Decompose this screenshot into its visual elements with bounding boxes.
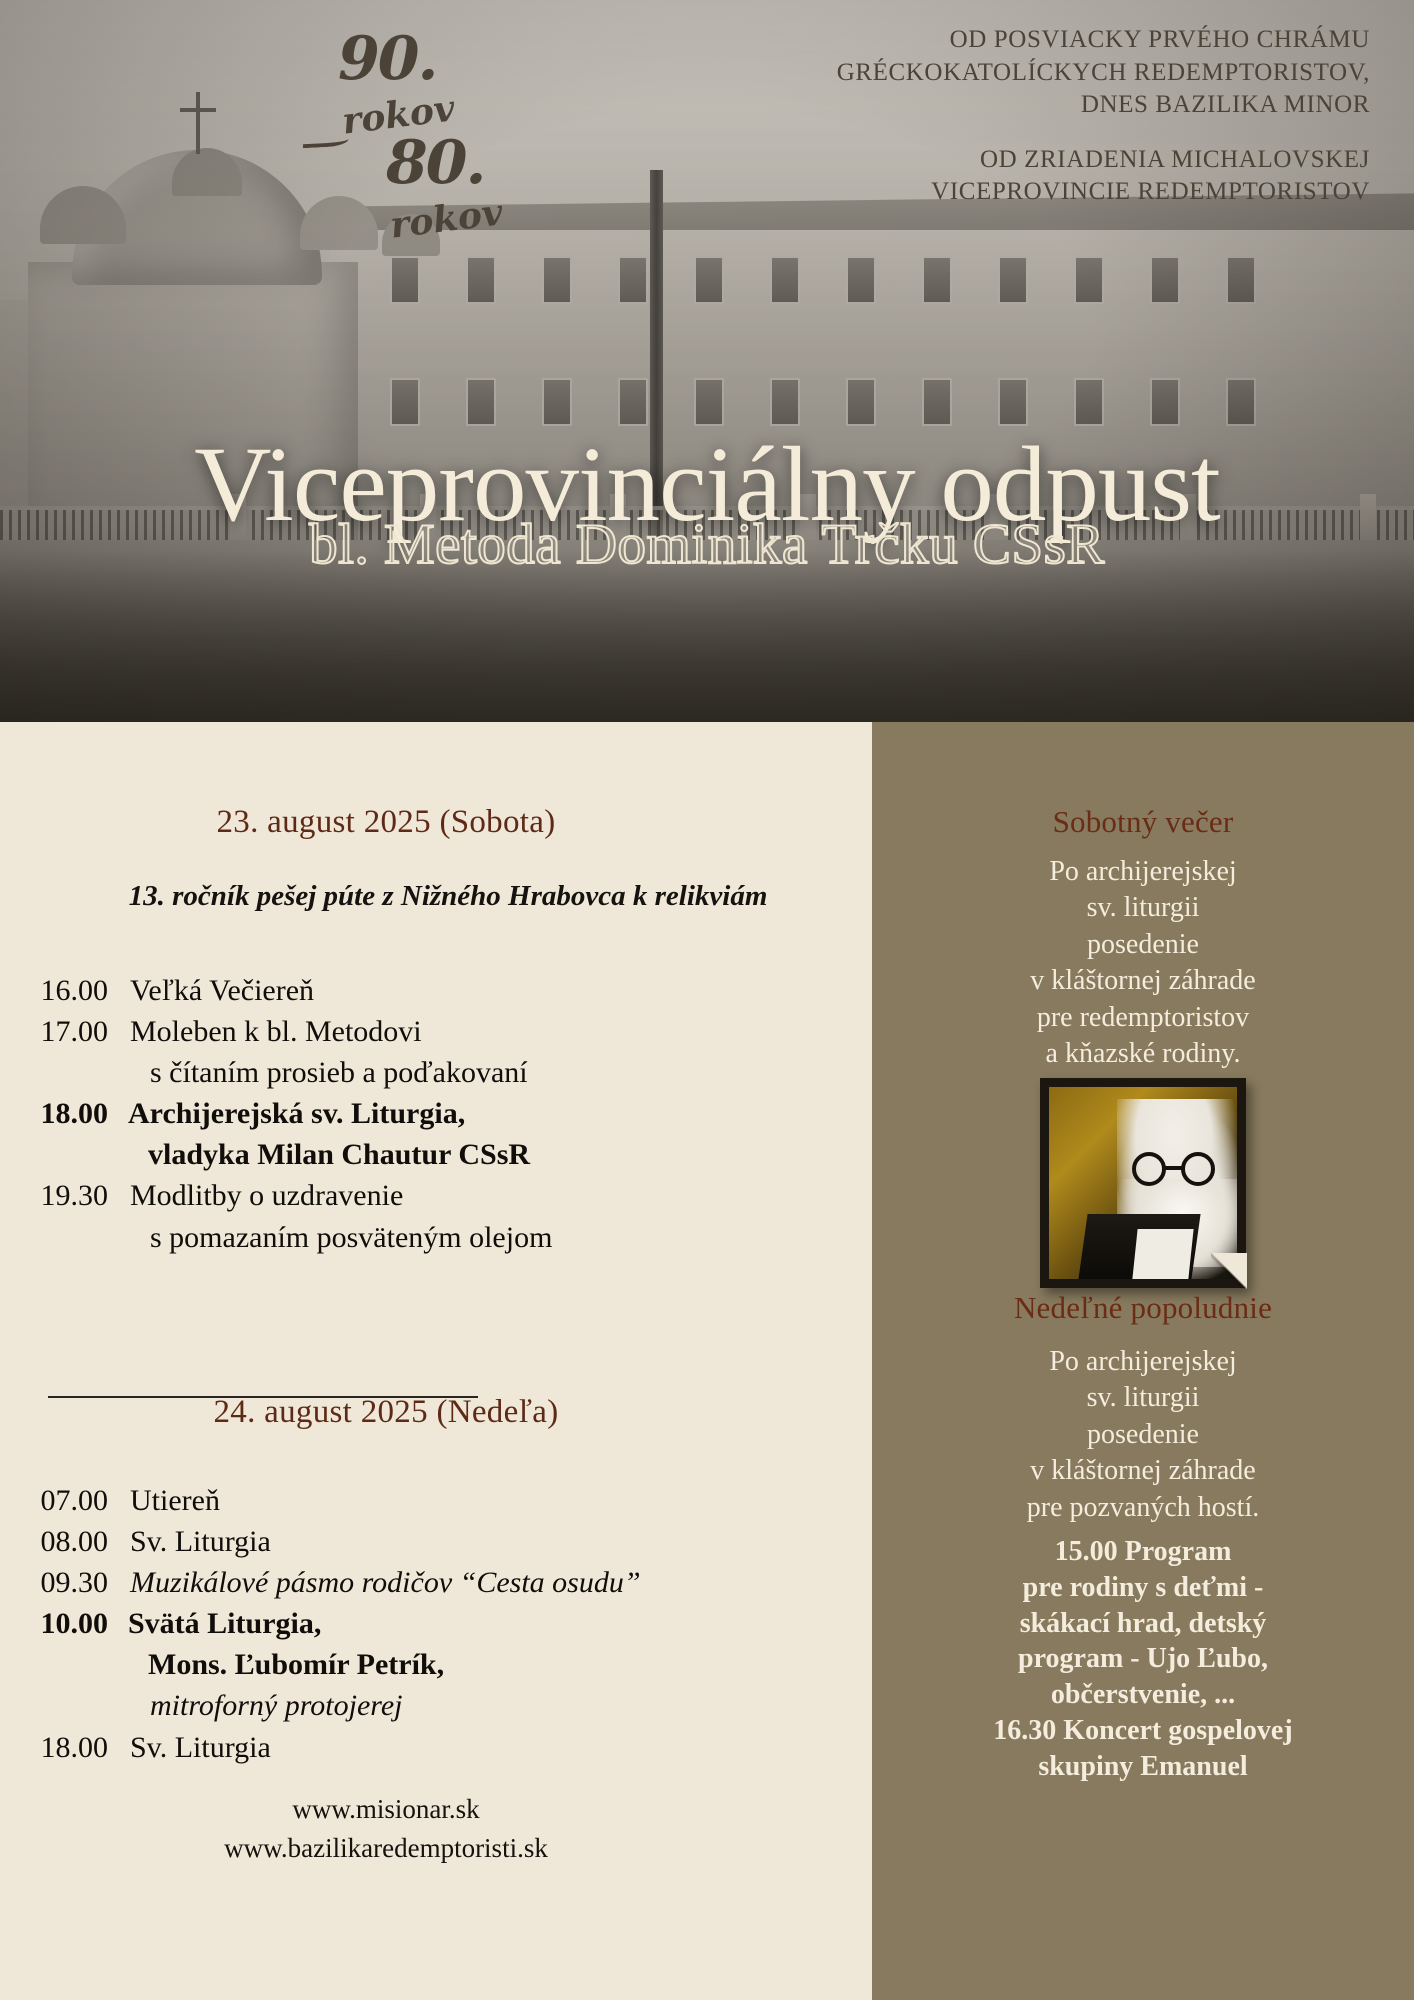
side-line: v kláštornej záhrade xyxy=(872,963,1414,999)
anniversary-80-number: 80. xyxy=(386,136,484,190)
schedule-desc: Sv. Liturgia xyxy=(108,1521,271,1562)
saturday-evening-text: Po archijerejskej sv. liturgii posedenie… xyxy=(872,854,1414,1072)
anniversary-line: OD POSVIACKY PRVÉHO CHRÁMU xyxy=(430,24,1370,57)
program-line: 15.00 Program xyxy=(872,1534,1414,1570)
schedule-desc: mitroforný protojerej xyxy=(108,1685,402,1726)
schedule-time: 10.00 xyxy=(0,1603,108,1644)
hero-photo-banner: 90. rokov 80. rokov OD POSVIACKY PRVÉHO … xyxy=(0,0,1414,722)
page-subtitle: bl. Metoda Dominika Trčku CSsR xyxy=(0,516,1414,573)
side-line: v kláštornej záhrade xyxy=(872,1453,1414,1489)
schedule-time: 16.00 xyxy=(0,970,108,1011)
side-line: sv. liturgii xyxy=(872,890,1414,926)
eyeglasses-icon xyxy=(1181,1152,1215,1186)
photo-bottom-fade xyxy=(0,552,1414,722)
saturday-evening-heading: Sobotný večer xyxy=(872,804,1414,840)
schedule-row: 17.00 Moleben k bl. Metodovi xyxy=(0,1011,872,1052)
schedule-desc: s čítaním prosieb a poďakovaní xyxy=(108,1052,528,1093)
program-line: skupiny Emanuel xyxy=(872,1749,1414,1785)
anniversary-badge: 90. rokov 80. rokov OD POSVIACKY PRVÉHO … xyxy=(430,24,1370,209)
saturday-pilgrimage-note: 13. ročník pešej púte z Nižného Hrabovca… xyxy=(24,880,872,913)
body-columns: 23. august 2025 (Sobota) 13. ročník peše… xyxy=(0,722,1414,2000)
anniversary-group-2: OD ZRIADENIA MICHALOVSKEJ VICEPROVINCIE … xyxy=(430,144,1370,209)
schedule-time: 19.30 xyxy=(0,1175,108,1216)
sunday-afternoon-text: Po archijerejskej sv. liturgii posedenie… xyxy=(872,1344,1414,1526)
anniversary-line: DNES BAZILIKA MINOR xyxy=(430,89,1370,122)
schedule-desc: Muzikálové pásmo rodičov “Cesta osudu” xyxy=(108,1562,641,1603)
page-curl xyxy=(1211,1253,1247,1289)
schedule-row: 19.30 Modlitby o uzdravenie xyxy=(0,1175,872,1216)
schedule-desc: s pomazaním posväteným olejom xyxy=(108,1217,552,1258)
eyeglasses-icon xyxy=(1132,1152,1166,1186)
schedule-row: 07.00 Utiereň xyxy=(0,1480,872,1521)
anniversary-line: VICEPROVINCIE REDEMPTORISTOV xyxy=(430,176,1370,209)
schedule-row: — mitroforný protojerej xyxy=(0,1685,872,1726)
side-line: pre redemptoristov xyxy=(872,1000,1414,1036)
side-line: Po archijerejskej xyxy=(872,1344,1414,1380)
program-line: program - Ujo Ľubo, xyxy=(872,1641,1414,1677)
portrait-collar xyxy=(1133,1229,1195,1279)
poster: 90. rokov 80. rokov OD POSVIACKY PRVÉHO … xyxy=(0,0,1414,2000)
schedule-desc: Utiereň xyxy=(108,1480,220,1521)
schedule-time: 18.00 xyxy=(0,1093,108,1134)
side-line: sv. liturgii xyxy=(872,1380,1414,1416)
schedule-row: 18.00 Archijerejská sv. Liturgia, xyxy=(0,1093,872,1134)
anniversary-line: GRÉCKOKATOLÍCKYCH REDEMPTORISTOV, xyxy=(430,57,1370,90)
schedule-desc: Sv. Liturgia xyxy=(108,1727,271,1768)
schedule-desc: Mons. Ľubomír Petrík, xyxy=(108,1644,444,1685)
schedule-row: 18.00 Sv. Liturgia xyxy=(0,1727,872,1768)
side-line: pre pozvaných hostí. xyxy=(872,1490,1414,1526)
side-line: Po archijerejskej xyxy=(872,854,1414,890)
schedule-desc: Svätá Liturgia, xyxy=(108,1603,321,1644)
program-line: pre rodiny s deťmi - xyxy=(872,1570,1414,1606)
anniversary-90-number: 90. xyxy=(338,32,436,86)
link-bazilikaredemptoristi[interactable]: www.bazilikaredemptoristi.sk xyxy=(0,1829,772,1868)
side-line: posedenie xyxy=(872,1417,1414,1453)
schedule-time: 18.00 xyxy=(0,1727,108,1768)
schedule-time: 17.00 xyxy=(0,1011,108,1052)
anniversary-text-block: OD POSVIACKY PRVÉHO CHRÁMU GRÉCKOKATOLÍC… xyxy=(430,24,1370,209)
schedule-row: — vladyka Milan Chautur CSsR xyxy=(0,1134,872,1175)
program-line: 16.30 Koncert gospelovej xyxy=(872,1713,1414,1749)
anniversary-group-1: OD POSVIACKY PRVÉHO CHRÁMU GRÉCKOKATOLÍC… xyxy=(430,24,1370,122)
side-line: posedenie xyxy=(872,927,1414,963)
schedule-desc: vladyka Milan Chautur CSsR xyxy=(108,1134,530,1175)
schedule-column: 23. august 2025 (Sobota) 13. ročník peše… xyxy=(0,722,872,2000)
side-info-column: Sobotný večer Po archijerejskej sv. litu… xyxy=(872,722,1414,2000)
schedule-row: — Mons. Ľubomír Petrík, xyxy=(0,1644,872,1685)
schedule-desc: Veľká Večiereň xyxy=(108,970,314,1011)
schedule-desc: Moleben k bl. Metodovi xyxy=(108,1011,422,1052)
link-misionar[interactable]: www.misionar.sk xyxy=(0,1790,772,1829)
schedule-row: 08.00 Sv. Liturgia xyxy=(0,1521,872,1562)
program-line: občerstvenie, ... xyxy=(872,1677,1414,1713)
schedule-desc: Modlitby o uzdravenie xyxy=(108,1175,403,1216)
schedule-time: 08.00 xyxy=(0,1521,108,1562)
schedule-row: 09.30 Muzikálové pásmo rodičov “Cesta os… xyxy=(0,1562,872,1603)
anniversary-line: OD ZRIADENIA MICHALOVSKEJ xyxy=(430,144,1370,177)
sunday-date-heading: 24. august 2025 (Nedeľa) xyxy=(0,1394,772,1431)
sunday-program-text: 15.00 Program pre rodiny s deťmi - skáka… xyxy=(872,1534,1414,1785)
portrait-frame xyxy=(1040,1078,1246,1288)
schedule-time: 09.30 xyxy=(0,1562,108,1603)
schedule-desc: Archijerejská sv. Liturgia, xyxy=(108,1093,465,1134)
sunday-afternoon-heading: Nedeľné popoludnie xyxy=(872,1290,1414,1326)
schedule-time: 07.00 xyxy=(0,1480,108,1521)
schedule-row: 10.00 Svätá Liturgia, xyxy=(0,1603,872,1644)
schedule-row: — s čítaním prosieb a poďakovaní xyxy=(0,1052,872,1093)
schedule-row: — s pomazaním posväteným olejom xyxy=(0,1217,872,1258)
program-line: skákací hrad, detský xyxy=(872,1606,1414,1642)
schedule-row: 16.00 Veľká Večiereň xyxy=(0,970,872,1011)
saturday-date-heading: 23. august 2025 (Sobota) xyxy=(0,804,772,841)
website-links: www.misionar.sk www.bazilikaredemptorist… xyxy=(0,1790,772,1868)
eyeglasses-bridge xyxy=(1162,1166,1182,1170)
